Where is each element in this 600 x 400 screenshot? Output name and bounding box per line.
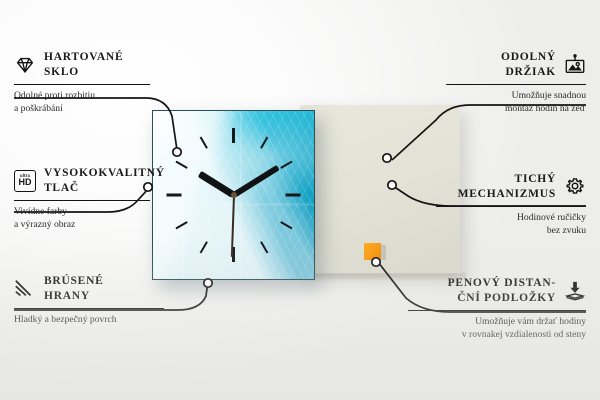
feature-foam-spacers: PENOVÝ DISTAN-ČNÍ PODLOŽKY Umožňuje vám … [408, 276, 586, 341]
feature-divider [14, 200, 150, 201]
feature-header: HARTOVANÉSKLO [14, 50, 150, 79]
feature-title: TICHÝMECHANIZMUS [458, 172, 556, 201]
beveled-edge-icon [14, 278, 36, 300]
gear-icon [564, 176, 586, 198]
feature-description: Odolné proti rozbitiua poškrábání [14, 90, 150, 115]
diamond-icon [14, 54, 36, 76]
clock-tick [232, 128, 235, 143]
feature-tempered-glass: HARTOVANÉSKLO Odolné proti rozbitiua poš… [14, 50, 150, 115]
feature-description: Umožňuje vám držať hodinyv rovnakej vzdi… [408, 316, 586, 341]
feature-header: ODOLNÝDRŽIAK [446, 50, 586, 79]
feature-title: VYSOKOKVALITNÝTLAČ [44, 166, 165, 195]
feature-title: ODOLNÝDRŽIAK [501, 50, 556, 79]
feature-description: Hladký a bezpečný povrch [14, 314, 164, 327]
feature-high-quality-print: ultra HD VYSOKOKVALITNÝTLAČ Vivídne farb… [14, 166, 150, 231]
feature-header: ultra HD VYSOKOKVALITNÝTLAČ [14, 166, 150, 195]
foam-spacer-pad [364, 243, 381, 260]
feature-title: PENOVÝ DISTAN-ČNÍ PODLOŽKY [448, 276, 556, 305]
feature-description: Hodinové ručičkybez zvuku [436, 212, 586, 237]
ultra-hd-icon: ultra HD [14, 170, 36, 192]
feature-divider [446, 84, 586, 85]
foam-pad-icon [564, 280, 586, 302]
feature-header: BRÚSENÉHRANY [14, 274, 164, 303]
feature-durable-hanger: ODOLNÝDRŽIAK Umožňuje snadnoumontáž hodi… [446, 50, 586, 115]
feature-divider [408, 310, 586, 311]
hd-main-label: HD [19, 178, 32, 187]
feature-description: Umožňuje snadnoumontáž hodin na zeď [446, 90, 586, 115]
connector-dot-left-bottom [204, 279, 212, 287]
feature-header: TICHÝMECHANIZMUS [436, 172, 586, 201]
feature-polished-edges: BRÚSENÉHRANY Hladký a bezpečný povrch [14, 274, 164, 327]
clock-tick [286, 194, 301, 197]
glass-wall-clock [152, 110, 315, 280]
feature-divider [436, 206, 586, 207]
feature-title: HARTOVANÉSKLO [44, 50, 123, 79]
feature-silent-mechanism: TICHÝMECHANIZMUS Hodinové ručičkybez zvu… [436, 172, 586, 237]
product-infographic: HARTOVANÉSKLO Odolné proti rozbitiua poš… [0, 0, 600, 400]
feature-description: Vivídne farbya výrazný obraz [14, 206, 150, 231]
feature-header: PENOVÝ DISTAN-ČNÍ PODLOŽKY [408, 276, 586, 305]
feature-title: BRÚSENÉHRANY [44, 274, 104, 303]
clock-tick [167, 194, 182, 197]
picture-frame-icon [564, 54, 586, 76]
feature-divider [14, 308, 164, 309]
clock-center-cap [231, 192, 237, 198]
feature-divider [14, 84, 150, 85]
